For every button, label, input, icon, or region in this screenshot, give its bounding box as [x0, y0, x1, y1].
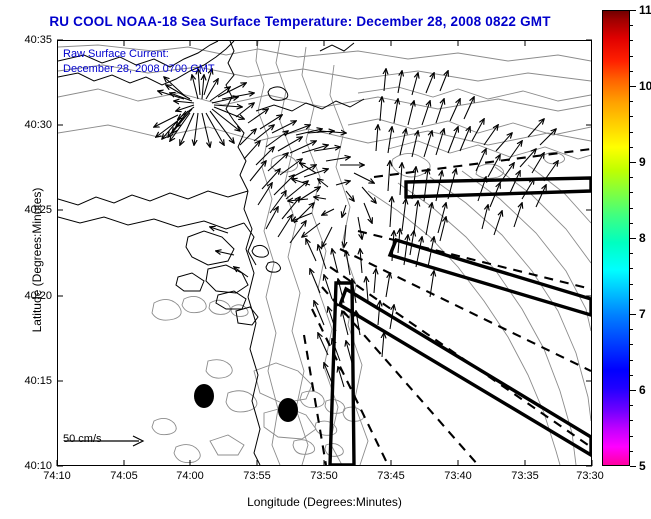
- cb-tick-8: 8: [639, 231, 646, 245]
- figure-root: RU COOL NOAA-18 Sea Surface Temperature:…: [0, 0, 651, 519]
- annotation-line-2: December 28, 2008 0700 GMT: [63, 62, 215, 77]
- colorbar: [602, 10, 630, 466]
- x-axis-title: Longitude (Degrees:Minutes): [57, 495, 592, 509]
- cb-tick-6: 6: [639, 383, 646, 397]
- annotation-line-1: Raw Surface Current:: [63, 47, 215, 62]
- annotation-block: Raw Surface Current: December 28, 2008 0…: [63, 47, 215, 77]
- y-axis-title: Latitude (Degrees:Minutes): [30, 160, 44, 360]
- cb-tick-9: 9: [639, 155, 646, 169]
- cb-tick-10: 10: [639, 79, 651, 93]
- cb-tick-11: 11: [639, 3, 651, 17]
- velocity-scale-legend: 50 cm/s: [63, 433, 102, 447]
- cb-tick-5: 5: [639, 459, 646, 473]
- velocity-scale-arrow-icon: [63, 433, 149, 447]
- cb-tick-7: 7: [639, 307, 646, 321]
